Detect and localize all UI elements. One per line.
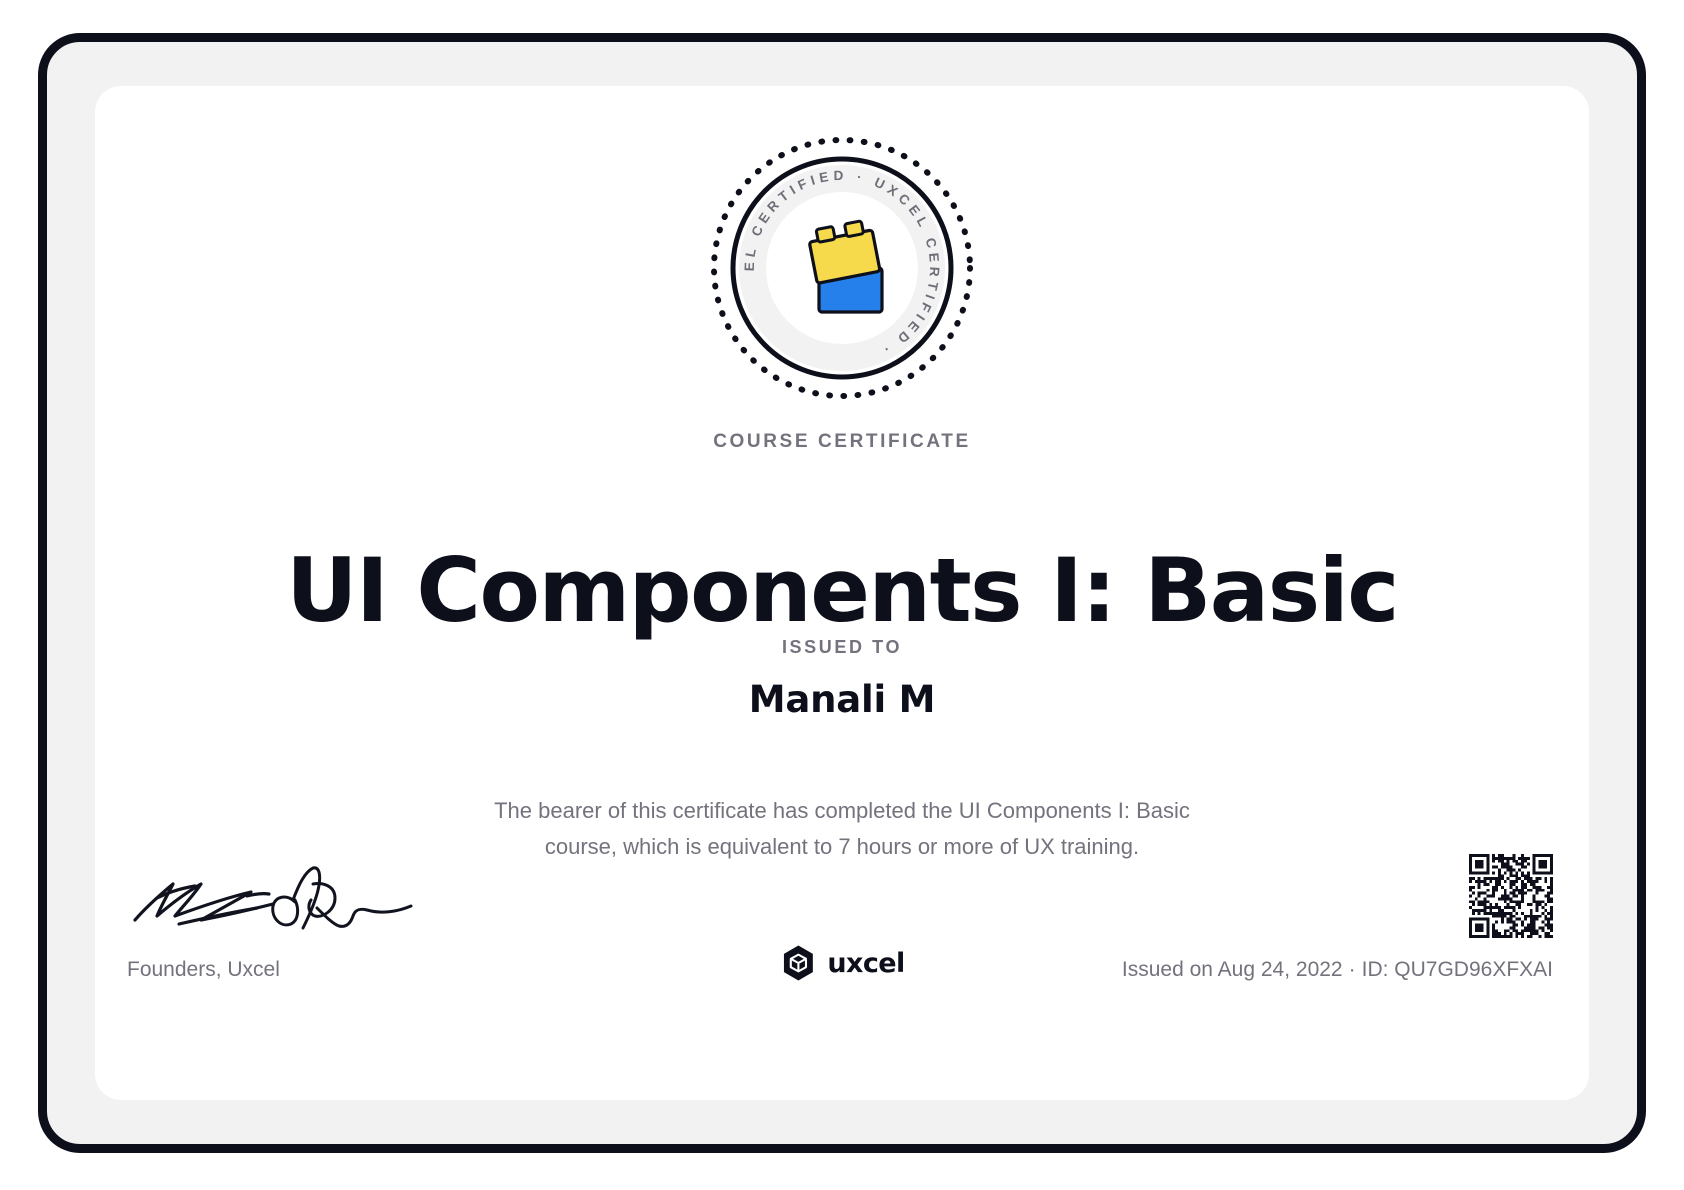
certificate-id-text: ID: QU7GD96XFXAI [1362,958,1553,981]
issue-meta: Issued on Aug 24, 2022·ID: QU7GD96XFXAI [1122,958,1553,982]
qr-code[interactable] [1469,854,1553,938]
certificate-description: The bearer of this certificate has compl… [472,793,1212,864]
issued-on-text: Issued on Aug 24, 2022 [1122,958,1343,981]
brand-name: uxcel [827,948,904,979]
recipient-name: Manali M [95,678,1589,721]
course-title: UI Components I: Basic [95,545,1589,637]
certificate-body: UXCEL CERTIFIED · UXCEL CERTIFIED · [95,86,1589,1100]
meta-separator: · [1343,958,1362,981]
uxcel-certified-badge: UXCEL CERTIFIED · UXCEL CERTIFIED · [706,132,978,404]
signature-icon [127,854,427,932]
certificate-kicker: COURSE CERTIFICATE [95,431,1589,453]
certificate-frame: UXCEL CERTIFIED · UXCEL CERTIFIED · [38,33,1646,1153]
badge-seal-icon: UXCEL CERTIFIED · UXCEL CERTIFIED · [706,132,978,404]
uxcel-cube-logo-icon [779,944,817,982]
uxcel-brand-logo: uxcel [779,944,904,982]
issued-to-label: ISSUED TO [95,637,1589,658]
qr-code-icon [1469,854,1553,938]
founders-caption: Founders, Uxcel [127,958,280,982]
signature-block [127,854,427,932]
